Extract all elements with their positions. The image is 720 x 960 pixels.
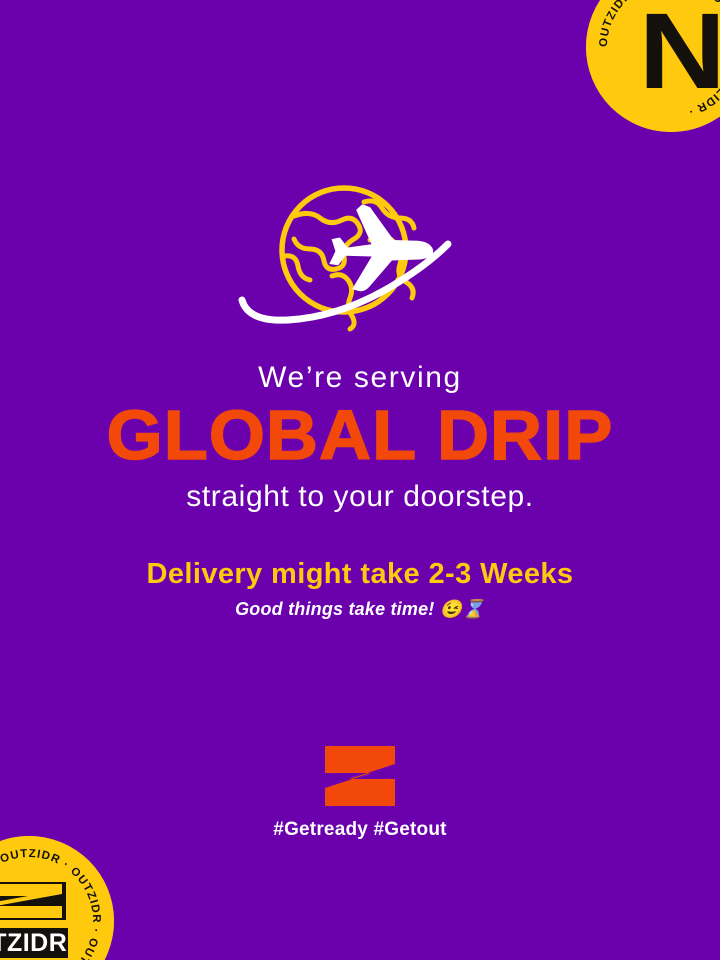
tagline-text: Good things take time! 😉⌛: [0, 600, 720, 620]
badge-inner-lockup: OUTZIDR: [0, 882, 68, 958]
brand-stamp-badge-top-right: OUTZIDR · OUTZIDR · OUTZIDR · OUTZIDR · …: [586, 0, 720, 132]
delivery-note-text: Delivery might take 2-3 Weeks: [0, 559, 720, 589]
footer-brand-lockup: #Getready #Getout: [0, 746, 720, 841]
brand-stamp-badge-bottom-left: OUTZIDR · OUTZIDR · OUTZIDR · OUTZIDR · …: [0, 836, 114, 960]
z-monogram-logo: [321, 746, 399, 806]
page-title: GLOBAL DRIP: [0, 401, 720, 470]
eyebrow-text: We’re serving: [0, 362, 720, 394]
globe-airplane-illustration: [236, 172, 486, 340]
badge-wordmark: OUTZIDR: [0, 929, 67, 957]
badge-center-glyph: N: [639, 0, 720, 112]
promo-poster: OUTZIDR · OUTZIDR · OUTZIDR · OUTZIDR · …: [0, 0, 720, 960]
headline-copy-block: We’re serving GLOBAL DRIP straight to yo…: [0, 362, 720, 620]
subhead-text: straight to your doorstep.: [0, 481, 720, 513]
